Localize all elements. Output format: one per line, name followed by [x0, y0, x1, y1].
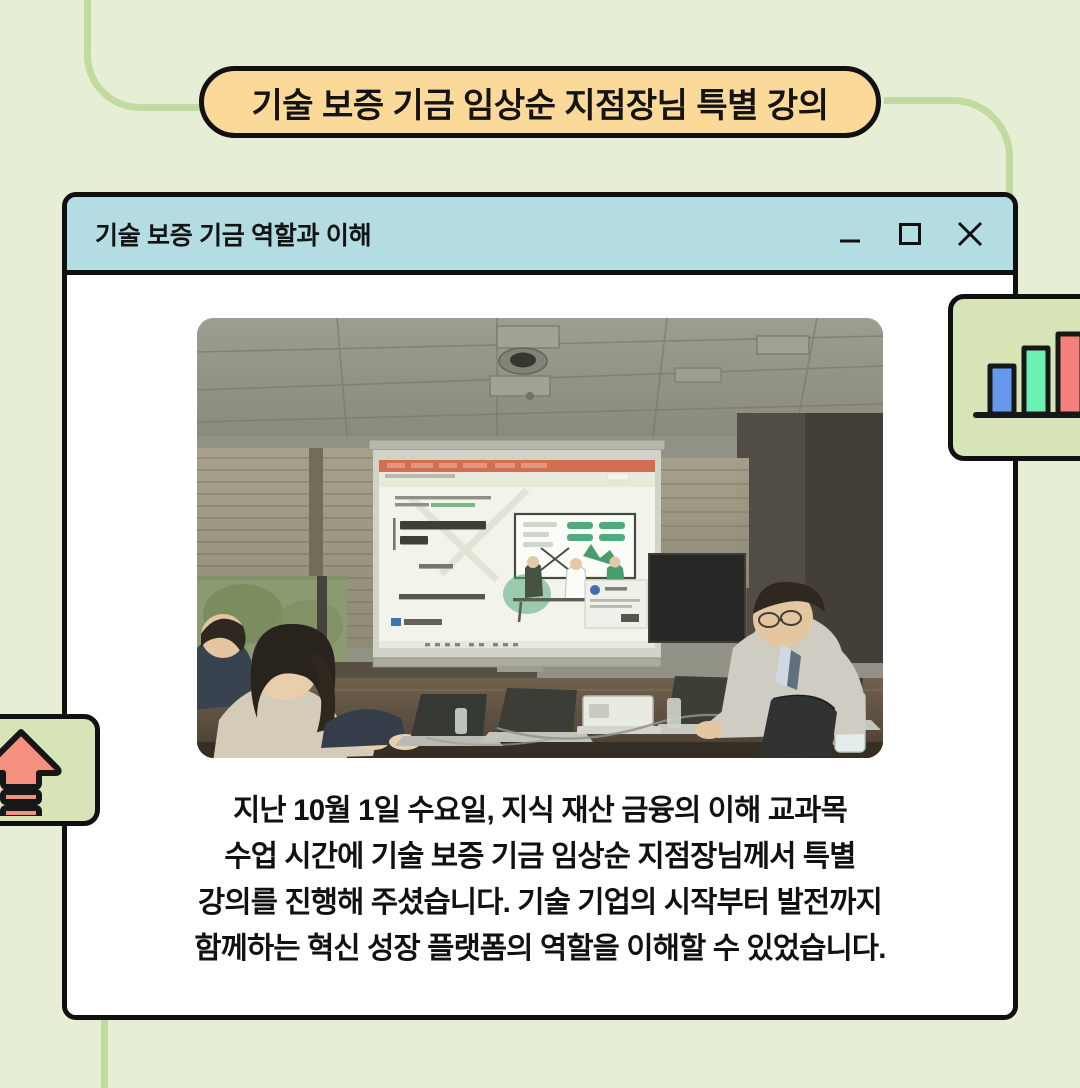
caption-line-4: 함께하는 혁신 성장 플랫폼의 역할을 이해할 수 있었습니다. [100, 926, 980, 972]
bar-chart-sticker [948, 294, 1080, 461]
caption-line-1: 지난 10월 1일 수요일, 지식 재산 금융의 이해 교과목 [100, 788, 980, 834]
title-banner-text: 기술 보증 기금 임상순 지점장님 특별 강의 [252, 78, 829, 127]
up-arrow-sticker [0, 714, 100, 826]
window-title: 기술 보증 기금 역할과 이해 [95, 216, 833, 252]
bar-chart-icon [968, 322, 1080, 434]
caption-text: 지난 10월 1일 수요일, 지식 재산 금융의 이해 교과목 수업 시간에 기… [100, 788, 980, 972]
caption-line-2: 수업 시간에 기술 보증 기금 임상순 지점장님께서 특별 [100, 834, 980, 880]
window-titlebar: 기술 보증 기금 역할과 이해 [67, 197, 1013, 275]
decorative-line-bottom-left [101, 1018, 108, 1088]
lecture-photo [197, 318, 883, 758]
caption-line-3: 강의를 진행해 주셨습니다. 기술 기업의 시작부터 발전까지 [100, 880, 980, 926]
close-icon[interactable] [953, 217, 987, 251]
window-controls [833, 217, 987, 251]
minimize-icon[interactable] [833, 217, 867, 251]
app-window: 기술 보증 기금 역할과 이해 [62, 192, 1018, 1020]
maximize-icon[interactable] [893, 217, 927, 251]
window-content: 지난 10월 1일 수요일, 지식 재산 금융의 이해 교과목 수업 시간에 기… [67, 275, 1013, 1015]
up-arrow-icon [0, 724, 67, 816]
title-banner: 기술 보증 기금 임상순 지점장님 특별 강의 [199, 66, 881, 138]
